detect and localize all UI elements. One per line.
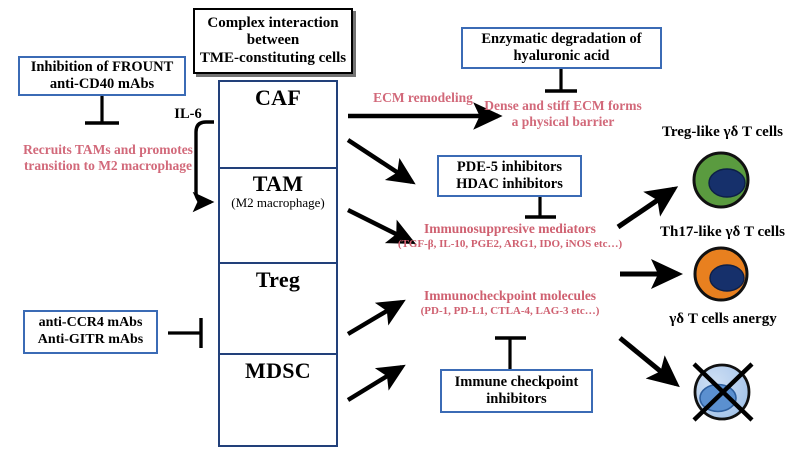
tme-cell-column: CAF TAM (M2 macrophage) Treg MDSC [218, 80, 338, 447]
inhibition-frount-line2: anti-CD40 mAbs [31, 76, 174, 93]
pde5-inhibition-connector [525, 197, 556, 217]
box-enzymatic-degradation[interactable]: Enzymatic degradation of hyaluronic acid [461, 27, 662, 69]
ici-line2: inhibitors [455, 391, 579, 408]
ici-line1: Immune checkpoint [455, 374, 579, 391]
enzymatic-degradation-line1: Enzymatic degradation of [481, 31, 641, 48]
pde5-line1: PDE-5 inhibitors [456, 159, 563, 176]
cell-panel-caf[interactable]: CAF [220, 82, 336, 169]
cell-panel-treg[interactable]: Treg [220, 264, 336, 355]
enzymatic-inhibition-connector [545, 69, 577, 91]
mdsc-to-checkpoint-arrow [348, 367, 402, 400]
ccr4-inhibition-connector [168, 318, 201, 348]
figure-canvas: Complex interaction between TME-constitu… [0, 0, 800, 462]
inhibition-frount-line1: Inhibition of FROUNT [31, 59, 174, 76]
cell-label-caf: CAF [220, 85, 336, 111]
complex-interaction-line3: TME-constituting cells [200, 50, 346, 67]
caf-to-pde5-arrow [348, 140, 412, 182]
checkpoint-detail: (PD-1, PD-L1, CTLA-4, LAG-3 etc…) [400, 305, 620, 318]
label-gd-tcells-anergy: γδ T cells anergy [648, 311, 798, 328]
cell-panel-tam[interactable]: TAM (M2 macrophage) [220, 169, 336, 264]
recruits-tams-line2: transition to M2 macrophage [8, 158, 208, 174]
inhibition-frount-connector [85, 96, 119, 123]
gd-tcell-anergy-glyph [694, 364, 752, 420]
box-complex-interaction[interactable]: Complex interaction between TME-constitu… [193, 8, 353, 74]
box-inhibition-frount[interactable]: Inhibition of FROUNT anti-CD40 mAbs [18, 56, 186, 96]
dense-ecm-line1: Dense and stiff ECM forms [479, 98, 647, 114]
label-recruits-tams: Recruits TAMs and promotes transition to… [8, 142, 208, 174]
label-th17-like-gd-tcells: Th17-like γδ T cells [645, 224, 800, 241]
label-dense-ecm: Dense and stiff ECM forms a physical bar… [479, 98, 647, 130]
cell-sublabel-tam: (M2 macrophage) [220, 195, 336, 211]
label-il6: IL-6 [160, 106, 216, 123]
th17-like-gd-tcell-glyph [695, 248, 747, 300]
recruits-tams-line1: Recruits TAMs and promotes [8, 142, 208, 158]
outcome-anergy-arrow [620, 338, 676, 384]
dense-ecm-line2: a physical barrier [479, 114, 647, 130]
box-pde5-hdac-inhibitors[interactable]: PDE-5 inhibitors HDAC inhibitors [437, 155, 582, 197]
cell-label-mdsc: MDSC [220, 358, 336, 384]
box-ccr4-gitr-mabs[interactable]: anti-CCR4 mAbs Anti-GITR mAbs [23, 310, 158, 354]
label-ecm-remodeling: ECM remodeling [355, 90, 491, 106]
ccr4-line2: Anti-GITR mAbs [38, 332, 143, 349]
mediators-detail: (TGF-β, IL-10, PGE2, ARG1, IDO, iNOS etc… [396, 238, 624, 251]
cell-label-tam: TAM [220, 171, 336, 197]
checkpoint-title: Immunocheckpoint molecules [400, 288, 620, 304]
pde5-line2: HDAC inhibitors [456, 176, 563, 193]
enzymatic-degradation-line2: hyaluronic acid [481, 48, 641, 65]
cell-panel-mdsc[interactable]: MDSC [220, 355, 336, 445]
mediators-title: Immunosuppresive mediators [396, 221, 624, 237]
box-immune-checkpoint-inhibitors[interactable]: Immune checkpoint inhibitors [440, 369, 593, 413]
complex-interaction-line2: between [200, 32, 346, 49]
outcome-treg-arrow [618, 189, 674, 227]
ccr4-line1: anti-CCR4 mAbs [38, 315, 143, 332]
ici-inhibition-connector [495, 338, 526, 369]
complex-interaction-line1: Complex interaction [200, 15, 346, 32]
label-treg-like-gd-tcells: Treg-like γδ T cells [645, 124, 800, 141]
treg-to-checkpoint-arrow [348, 302, 402, 334]
label-immunocheckpoint-molecules: Immunocheckpoint molecules (PD-1, PD-L1,… [400, 288, 620, 318]
treg-like-gd-tcell-glyph [694, 153, 748, 207]
cell-label-treg: Treg [220, 267, 336, 293]
label-immunosuppresive-mediators: Immunosuppresive mediators (TGF-β, IL-10… [396, 221, 624, 251]
